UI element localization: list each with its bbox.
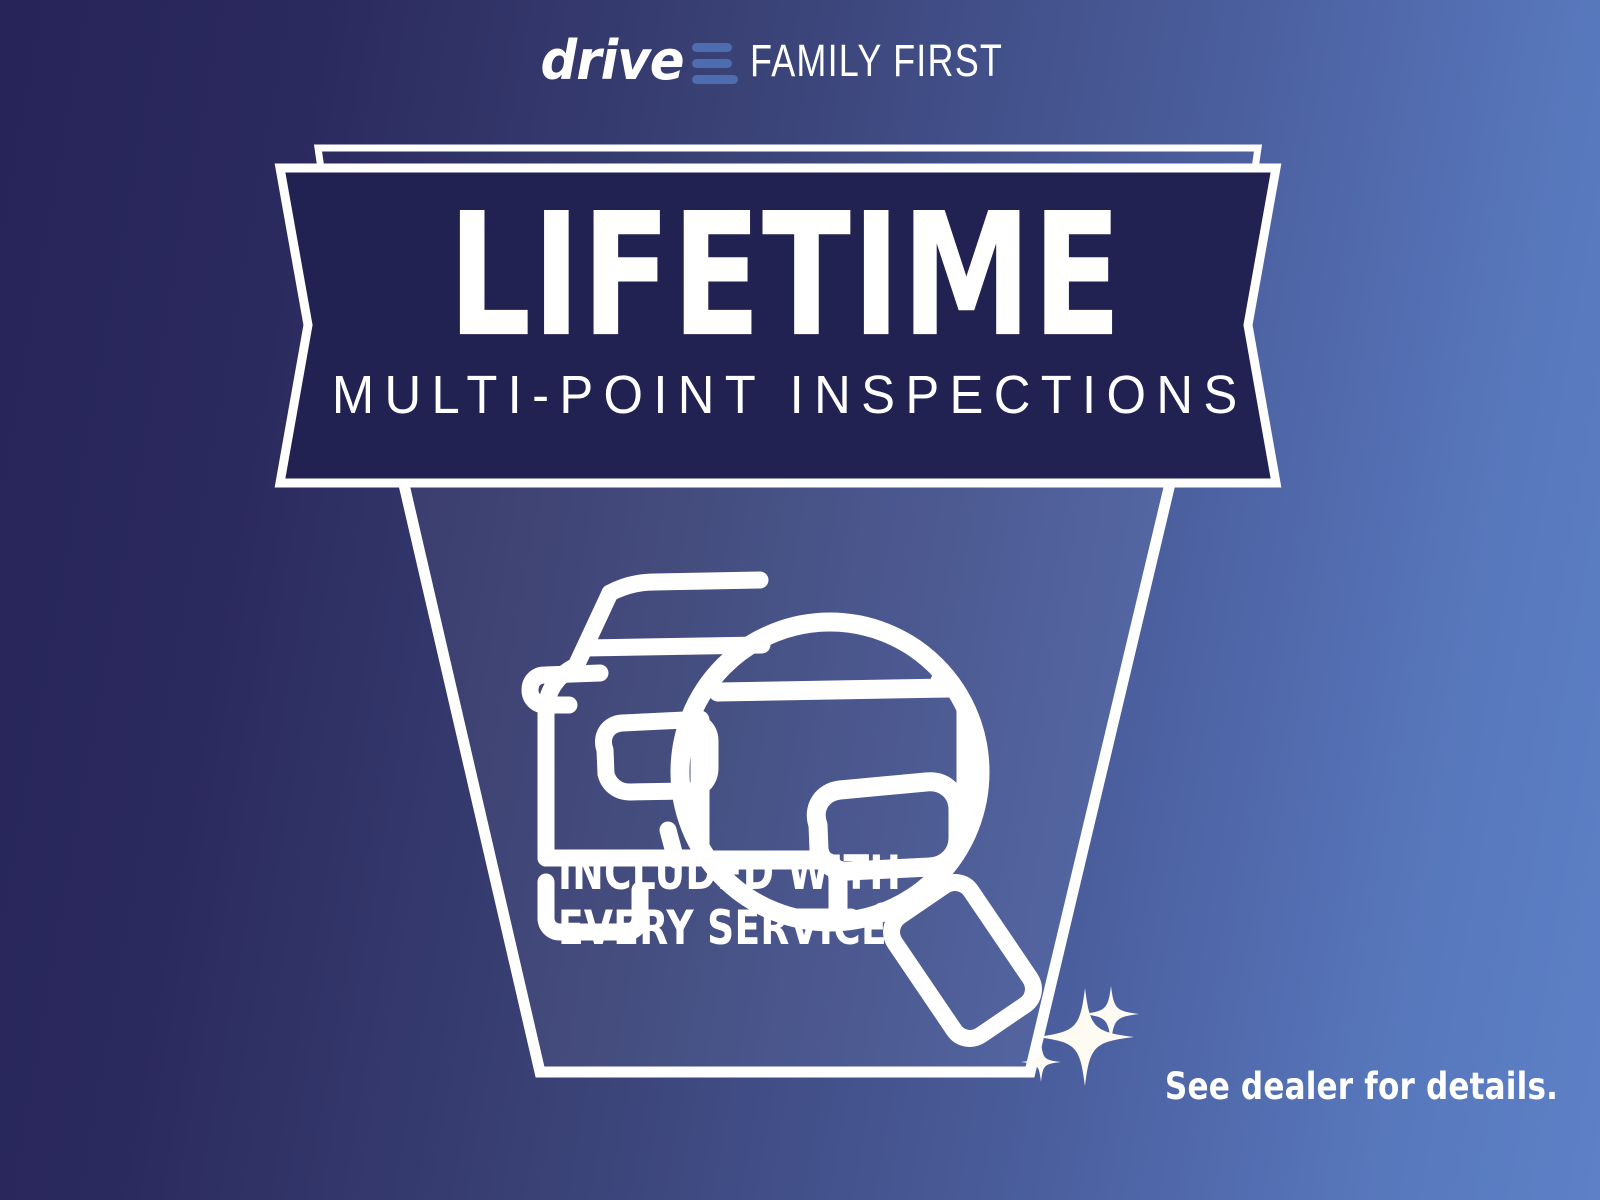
callout-text: INCLUDED WITH EVERY SERVICE [558,846,901,956]
badge-graphic [0,120,1600,1120]
disclaimer-text: See dealer for details. [1165,1065,1558,1108]
callout-line-1: INCLUDED WITH [558,846,901,901]
stacked-bars-icon-bar-3 [692,75,738,84]
promo-graphic: drive FAMILY FIRST [0,0,1600,1200]
brand-tagline: FAMILY FIRST [750,35,1003,87]
badge-body-shape [396,450,1178,1072]
stacked-bars-icon [692,39,738,84]
banner-shape [280,168,1276,483]
stacked-bars-icon-bar-1 [692,43,732,52]
callout-line-2: EVERY SERVICE [558,901,887,956]
stacked-bars-icon-bar-2 [692,59,732,68]
brand-lockup: drive FAMILY FIRST [0,30,1600,92]
brand-name: drive [541,34,684,88]
